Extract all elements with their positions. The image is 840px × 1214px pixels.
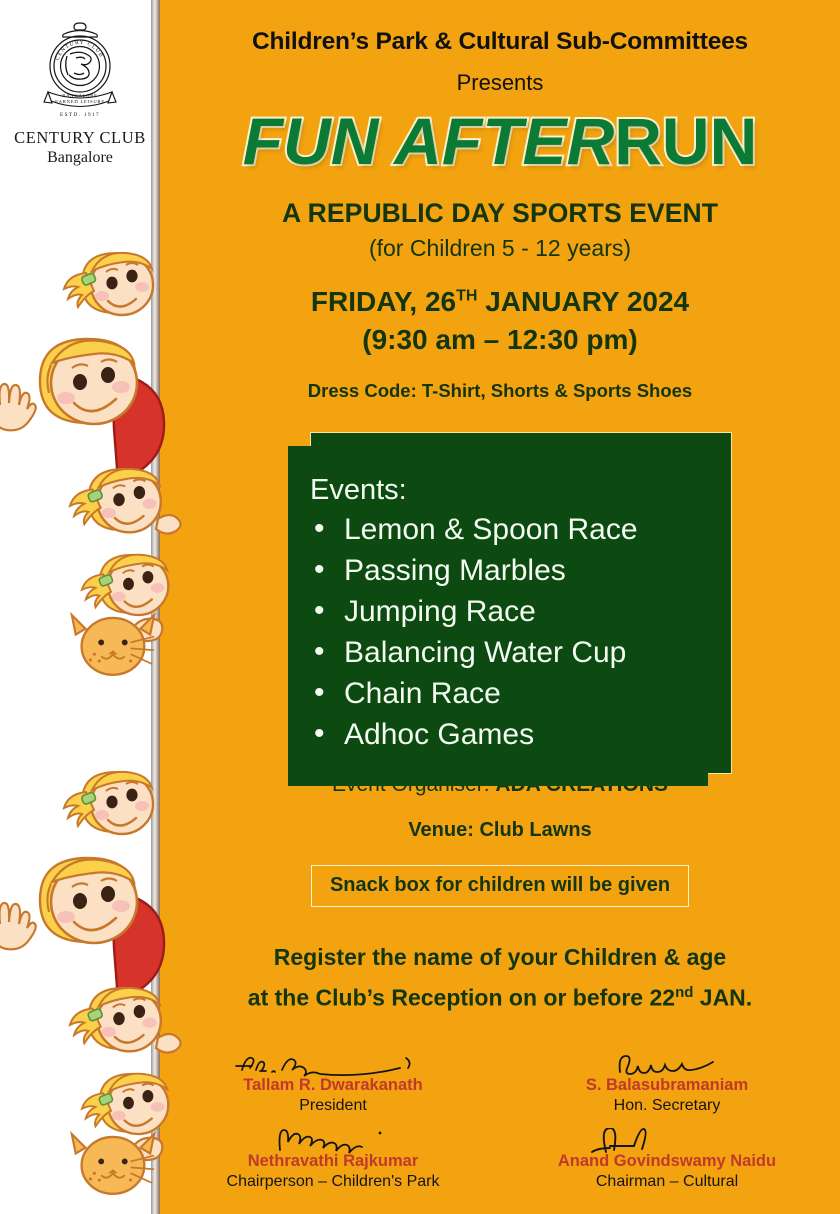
date-prefix: FRIDAY, 26 [311, 286, 456, 317]
club-logo: CENTURY CLUB BANGALORE EARNED LEISURE ES… [14, 18, 146, 167]
children-illustration-group-top [0, 243, 228, 683]
event-date: FRIDAY, 26TH JANUARY 2024 [160, 286, 840, 318]
club-city-text: Bangalore [14, 149, 146, 167]
date-rest: JANUARY 2024 [477, 286, 689, 317]
registration-line-2b: JAN. [693, 985, 752, 1011]
presenter-line: Children’s Park & Cultural Sub-Committee… [160, 28, 840, 56]
registration-line-2a: at the Club’s Reception on or before 22 [248, 985, 675, 1011]
page-title: FUN AFTERRUN [160, 104, 840, 178]
events-box-content: Events: Lemon & Spoon Race Passing Marbl… [288, 446, 708, 786]
club-name-text: CENTURY CLUB [14, 128, 146, 148]
list-item: Chain Race [288, 673, 708, 714]
signature-role: Hon. Secretary [502, 1097, 832, 1115]
signature-scribble-icon [562, 1052, 772, 1078]
list-item: Balancing Water Cup [288, 632, 708, 673]
signature-block-secretary: S. Balasubramaniam Hon. Secretary [502, 1052, 832, 1115]
century-club-crest-icon: CENTURY CLUB BANGALORE EARNED LEISURE ES… [34, 18, 126, 122]
registration-line-2: at the Club’s Reception on or before 22n… [160, 975, 840, 1016]
date-ordinal-suffix: TH [456, 288, 477, 305]
events-box: Events: Lemon & Spoon Race Passing Marbl… [160, 420, 840, 775]
registration-line-1: Register the name of your Children & age [160, 939, 840, 975]
age-range: (for Children 5 - 12 years) [160, 235, 840, 262]
poster-root: CENTURY CLUB BANGALORE EARNED LEISURE ES… [0, 0, 840, 1214]
event-venue: Venue: Club Lawns [160, 819, 840, 842]
poster-content: Children’s Park & Cultural Sub-Committee… [160, 0, 840, 1214]
registration-ordinal: nd [675, 984, 693, 1001]
events-heading: Events: [288, 446, 708, 507]
title-part-italic: FUN AFTER [243, 104, 615, 178]
signature-block-chairman: Anand Govindswamy Naidu Chairman – Cultu… [502, 1128, 832, 1191]
svg-text:ESTD. 1917: ESTD. 1917 [60, 112, 100, 118]
signature-scribble-icon [228, 1128, 438, 1154]
dress-code: Dress Code: T-Shirt, Shorts & Sports Sho… [160, 380, 840, 402]
children-illustration-group-bottom [0, 762, 228, 1202]
svg-text:EARNED LEISURE: EARNED LEISURE [55, 99, 105, 104]
event-subtitle: A REPUBLIC DAY SPORTS EVENT [160, 198, 840, 229]
signature-name: Anand Govindswamy Naidu [502, 1152, 832, 1171]
signature-scribble-icon [562, 1128, 772, 1154]
presents-line: Presents [160, 70, 840, 96]
list-item: Lemon & Spoon Race [288, 509, 708, 550]
svg-text:BANGALORE: BANGALORE [62, 93, 98, 98]
signature-scribble-icon [228, 1052, 438, 1078]
signature-name: S. Balasubramaniam [502, 1076, 832, 1095]
signature-role: Chairman – Cultural [502, 1173, 832, 1191]
registration-note: Register the name of your Children & age… [160, 939, 840, 1016]
list-item: Adhoc Games [288, 714, 708, 755]
title-part-upright: RUN [614, 104, 757, 178]
list-item: Jumping Race [288, 591, 708, 632]
snack-note-box: Snack box for children will be given [311, 865, 689, 907]
event-time: (9:30 am – 12:30 pm) [160, 324, 840, 356]
events-list: Lemon & Spoon Race Passing Marbles Jumpi… [288, 509, 708, 755]
list-item: Passing Marbles [288, 550, 708, 591]
